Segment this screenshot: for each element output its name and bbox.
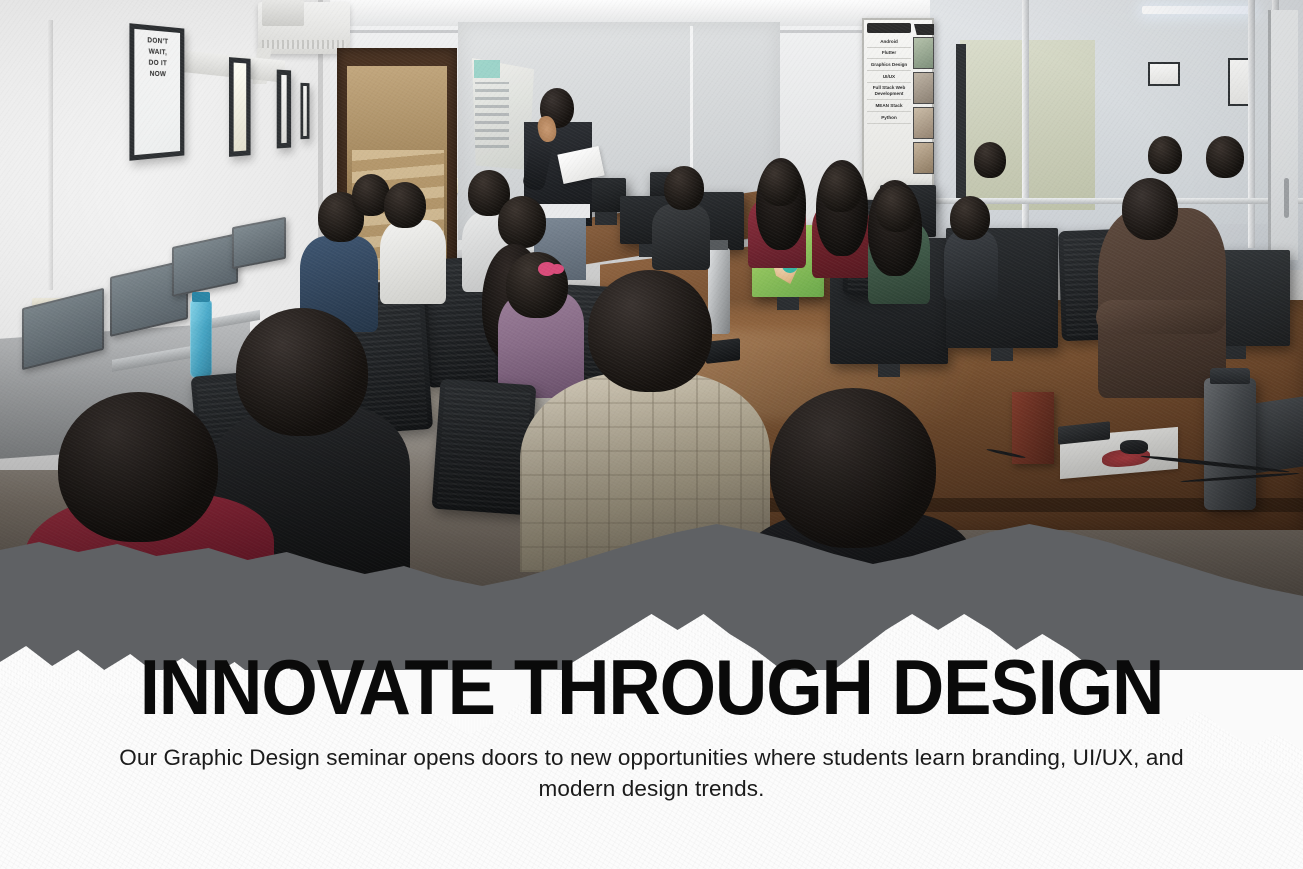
student-head: [950, 196, 990, 240]
page-subtitle: Our Graphic Design seminar opens doors t…: [92, 742, 1212, 806]
board-photo: [913, 107, 934, 139]
page-title: INNOVATE THROUGH DESIGN: [46, 648, 1258, 728]
student-head: [384, 182, 426, 228]
foreground-student-head: [588, 270, 712, 392]
hair-bow-icon: [538, 262, 556, 276]
student-head: [876, 186, 918, 232]
blue-water-bottle: [190, 300, 212, 378]
seated-man-head: [1122, 178, 1178, 240]
bottle-cap: [192, 292, 210, 302]
glass-door: [1268, 10, 1298, 260]
bottle-cap: [1210, 368, 1250, 384]
slide-accent: [474, 60, 500, 78]
course-item: Graphics Design: [867, 59, 911, 71]
wall-poster-text: DON'T WAIT, DO IT NOW: [140, 36, 175, 149]
seated-man-arms: [1096, 300, 1226, 334]
board-photo: [913, 72, 934, 104]
board-photo: [913, 37, 934, 69]
glass-rail: [930, 198, 1303, 204]
student-head: [664, 166, 704, 210]
wall-poster-frame: DON'T WAIT, DO IT NOW: [129, 23, 184, 161]
foreground-student-head: [58, 392, 218, 542]
student-torso: [944, 230, 998, 300]
glass-mullion: [1248, 0, 1255, 248]
office-worker-head: [1148, 136, 1182, 174]
foreground-student-head: [770, 388, 936, 548]
course-item: Android: [867, 36, 911, 48]
office-notice: [1148, 62, 1180, 86]
student-torso: [652, 204, 710, 270]
wall-conduit: [48, 20, 53, 290]
dark-water-bottle: [1204, 378, 1256, 510]
student-head: [498, 196, 546, 248]
board-photo: [913, 142, 934, 174]
flask-cap: [710, 240, 728, 250]
wooden-block: [1012, 392, 1054, 464]
course-board-title: [867, 23, 911, 33]
wall-frame-3: [277, 70, 291, 149]
glass-mullion: [1022, 0, 1029, 248]
student-head: [506, 252, 568, 318]
wall-frame-2: [229, 57, 251, 157]
ac-vent-icon: [262, 0, 304, 26]
text-block: INNOVATE THROUGH DESIGN Our Graphic Desi…: [0, 648, 1303, 805]
course-board-photos: [913, 37, 934, 177]
inner-office-door: [956, 44, 966, 204]
course-item: Python: [867, 112, 911, 124]
student-torso: [380, 220, 446, 304]
computer-mouse: [1120, 440, 1148, 454]
course-item: Full Stack Web Development: [867, 83, 911, 100]
student-head: [820, 166, 862, 212]
course-item: Flutter: [867, 48, 911, 60]
tube-light-icon: [1142, 6, 1254, 14]
door-handle-icon: [1284, 178, 1289, 218]
office-back-wall: [1080, 14, 1290, 224]
office-worker-head: [974, 142, 1006, 178]
course-item: UI/UX: [867, 71, 911, 83]
poster-root: DON'T WAIT, DO IT NOW: [0, 0, 1303, 869]
laptop: [1254, 397, 1303, 474]
course-board-badge: [914, 24, 934, 35]
wall-frame-4: [300, 83, 309, 139]
course-list: Android Flutter Graphics Design UI/UX Fu…: [867, 36, 911, 124]
seminar-photo: DON'T WAIT, DO IT NOW: [0, 0, 1303, 630]
foreground-student-head: [236, 308, 368, 436]
office-worker-head: [1206, 136, 1244, 178]
course-item: MEAN Stack: [867, 100, 911, 112]
student-head: [760, 162, 800, 206]
